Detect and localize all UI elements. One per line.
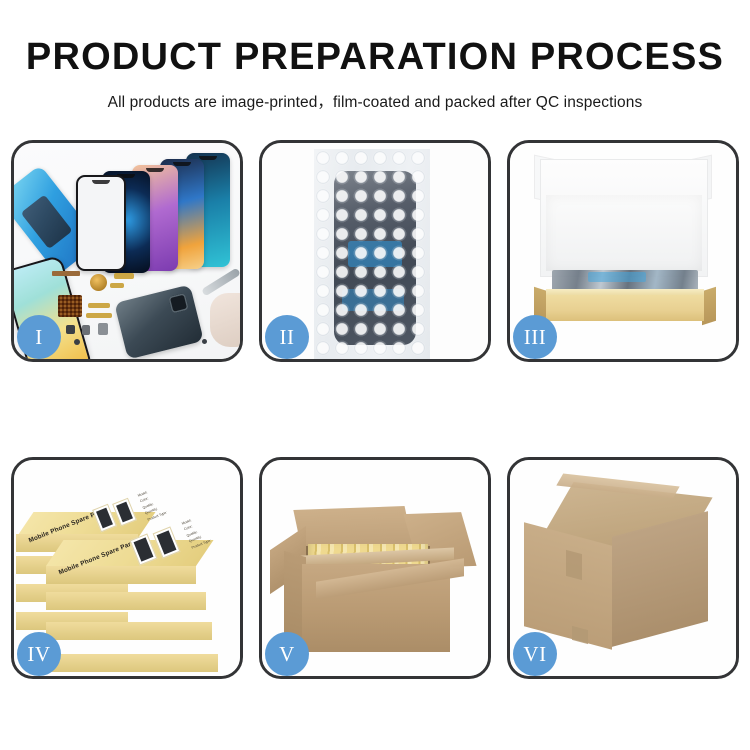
retail-box-front-4	[46, 640, 218, 672]
box-front-edge	[46, 592, 206, 610]
flex-cable-icon-3	[88, 303, 110, 308]
technician-hand	[210, 293, 240, 347]
flex-cable-icon-1	[114, 273, 134, 279]
retail-box-front-2	[46, 580, 206, 610]
sealed-carton-left-face	[524, 522, 612, 650]
step-numeral: II	[280, 325, 295, 350]
step-badge-3: III	[513, 315, 557, 359]
notch-icon	[199, 156, 217, 160]
step-panel-1[interactable]: I	[11, 140, 243, 362]
vibration-motor-icon	[90, 274, 107, 291]
step-badge-2: II	[265, 315, 309, 359]
phone-back-housing-icon	[114, 284, 204, 359]
box-front-edge	[46, 622, 212, 640]
step-badge-6: VI	[513, 632, 557, 676]
flex-cable-icon-2	[110, 283, 124, 288]
battery-connector-icon	[98, 323, 108, 335]
notch-icon	[173, 162, 191, 166]
carton-tab-upper	[566, 550, 582, 580]
step-badge-4: IV	[17, 632, 61, 676]
box-front-panel	[546, 295, 704, 321]
notch-icon	[92, 180, 110, 184]
header: PRODUCT PREPARATION PROCESS All products…	[0, 0, 750, 112]
page-title: PRODUCT PREPARATION PROCESS	[0, 0, 750, 76]
spare-part-bar-icon	[52, 271, 80, 276]
step-panel-5[interactable]: V	[259, 457, 491, 679]
screw-icon-3	[202, 339, 207, 344]
box-front-edge	[46, 654, 218, 672]
screw-icon-2	[74, 339, 80, 345]
box-side-right	[702, 287, 716, 326]
carton-tab-lower	[572, 626, 588, 644]
bubble-wrap-bag	[314, 149, 430, 359]
step-numeral: V	[279, 642, 295, 667]
camera-lens-icon	[66, 325, 75, 334]
steps-grid: I II	[11, 140, 739, 679]
steps-row-2: Mobile Phone Spare Parts Model: Color: Q…	[11, 457, 739, 679]
step-numeral: I	[35, 325, 43, 350]
circuit-board-icon	[58, 295, 82, 317]
step-panel-2[interactable]: II	[259, 140, 491, 362]
page-subtitle: All products are image-printed，film-coat…	[0, 76, 750, 112]
step-panel-3[interactable]: III	[507, 140, 739, 362]
step-badge-5: V	[265, 632, 309, 676]
step-numeral: IV	[27, 642, 50, 667]
retail-box-front-3	[46, 610, 212, 640]
bubble-highlight-layer	[314, 149, 430, 359]
steps-row-1: I II	[11, 140, 739, 362]
flex-cable-icon-4	[86, 313, 112, 318]
tempered-glass-screen	[76, 175, 126, 271]
step-panel-6[interactable]: VI	[507, 457, 739, 679]
foam-lining	[546, 195, 702, 271]
step-numeral: III	[524, 325, 546, 350]
step-numeral: VI	[523, 642, 546, 667]
speaker-icon	[82, 325, 90, 335]
step-panel-4[interactable]: Mobile Phone Spare Parts Model: Color: Q…	[11, 457, 243, 679]
step-badge-1: I	[17, 315, 61, 359]
product-preparation-infographic: PRODUCT PREPARATION PROCESS All products…	[0, 0, 750, 750]
notch-icon	[146, 168, 164, 172]
